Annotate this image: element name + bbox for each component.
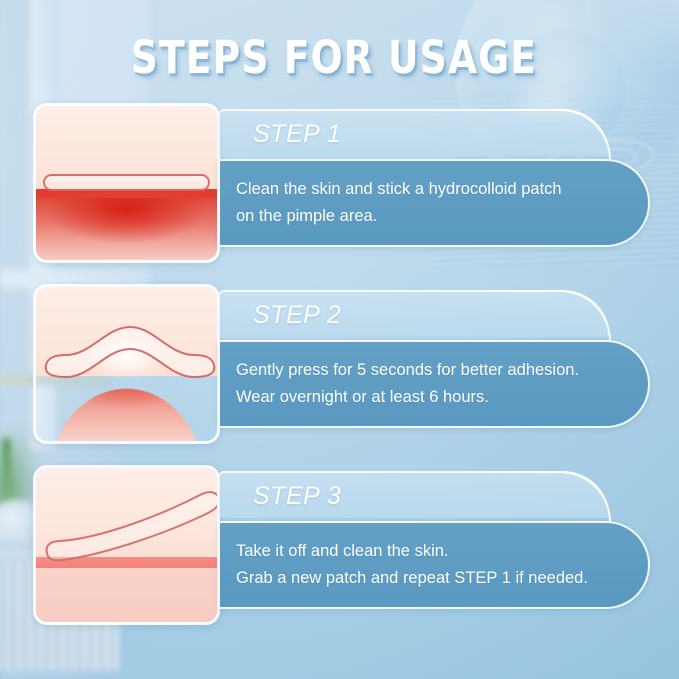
step-2-line-1: Gently press for 5 seconds for better ad… [236, 357, 590, 384]
step-1-line-1: Clean the skin and stick a hydrocolloid … [236, 176, 590, 203]
step-1-line-2: on the pimple area. [236, 203, 590, 230]
hydrocolloid-patch-peeling [36, 468, 217, 622]
skin-inflamed-layer [36, 198, 217, 260]
hydrocolloid-patch-curved [36, 287, 217, 441]
step-1-tab-label: STEP 1 [253, 120, 341, 149]
step-2-tab: STEP 2 [218, 290, 610, 337]
step-3-tab: STEP 3 [218, 471, 610, 518]
step-2-text-panel: Gently press for 5 seconds for better ad… [218, 340, 650, 428]
page-title: STEPS FOR USAGE [24, 31, 655, 84]
step-2-panel: STEP 2 Gently press for 5 seconds for be… [218, 290, 650, 428]
step-1-illustration [33, 103, 220, 263]
step-3-illustration [33, 465, 220, 625]
step-1-tab: STEP 1 [218, 109, 610, 156]
step-3-tab-label: STEP 3 [253, 482, 341, 511]
step-3-line-2: Grab a new patch and repeat STEP 1 if ne… [236, 565, 590, 592]
step-2-line-2: Wear overnight or at least 6 hours. [236, 384, 590, 411]
step-2-illustration [33, 284, 220, 444]
step-2-tab-label: STEP 2 [253, 301, 341, 330]
step-3-panel: STEP 3 Take it off and clean the skin. G… [218, 471, 650, 609]
hydrocolloid-patch-flat [43, 174, 210, 191]
step-3-line-1: Take it off and clean the skin. [236, 538, 590, 565]
step-3-text-panel: Take it off and clean the skin. Grab a n… [218, 521, 650, 609]
infographic-canvas: STEPS FOR USAGE STEP 1 Clean the skin an… [0, 0, 679, 679]
step-1-text-panel: Clean the skin and stick a hydrocolloid … [218, 159, 650, 247]
step-1-panel: STEP 1 Clean the skin and stick a hydroc… [218, 109, 650, 247]
